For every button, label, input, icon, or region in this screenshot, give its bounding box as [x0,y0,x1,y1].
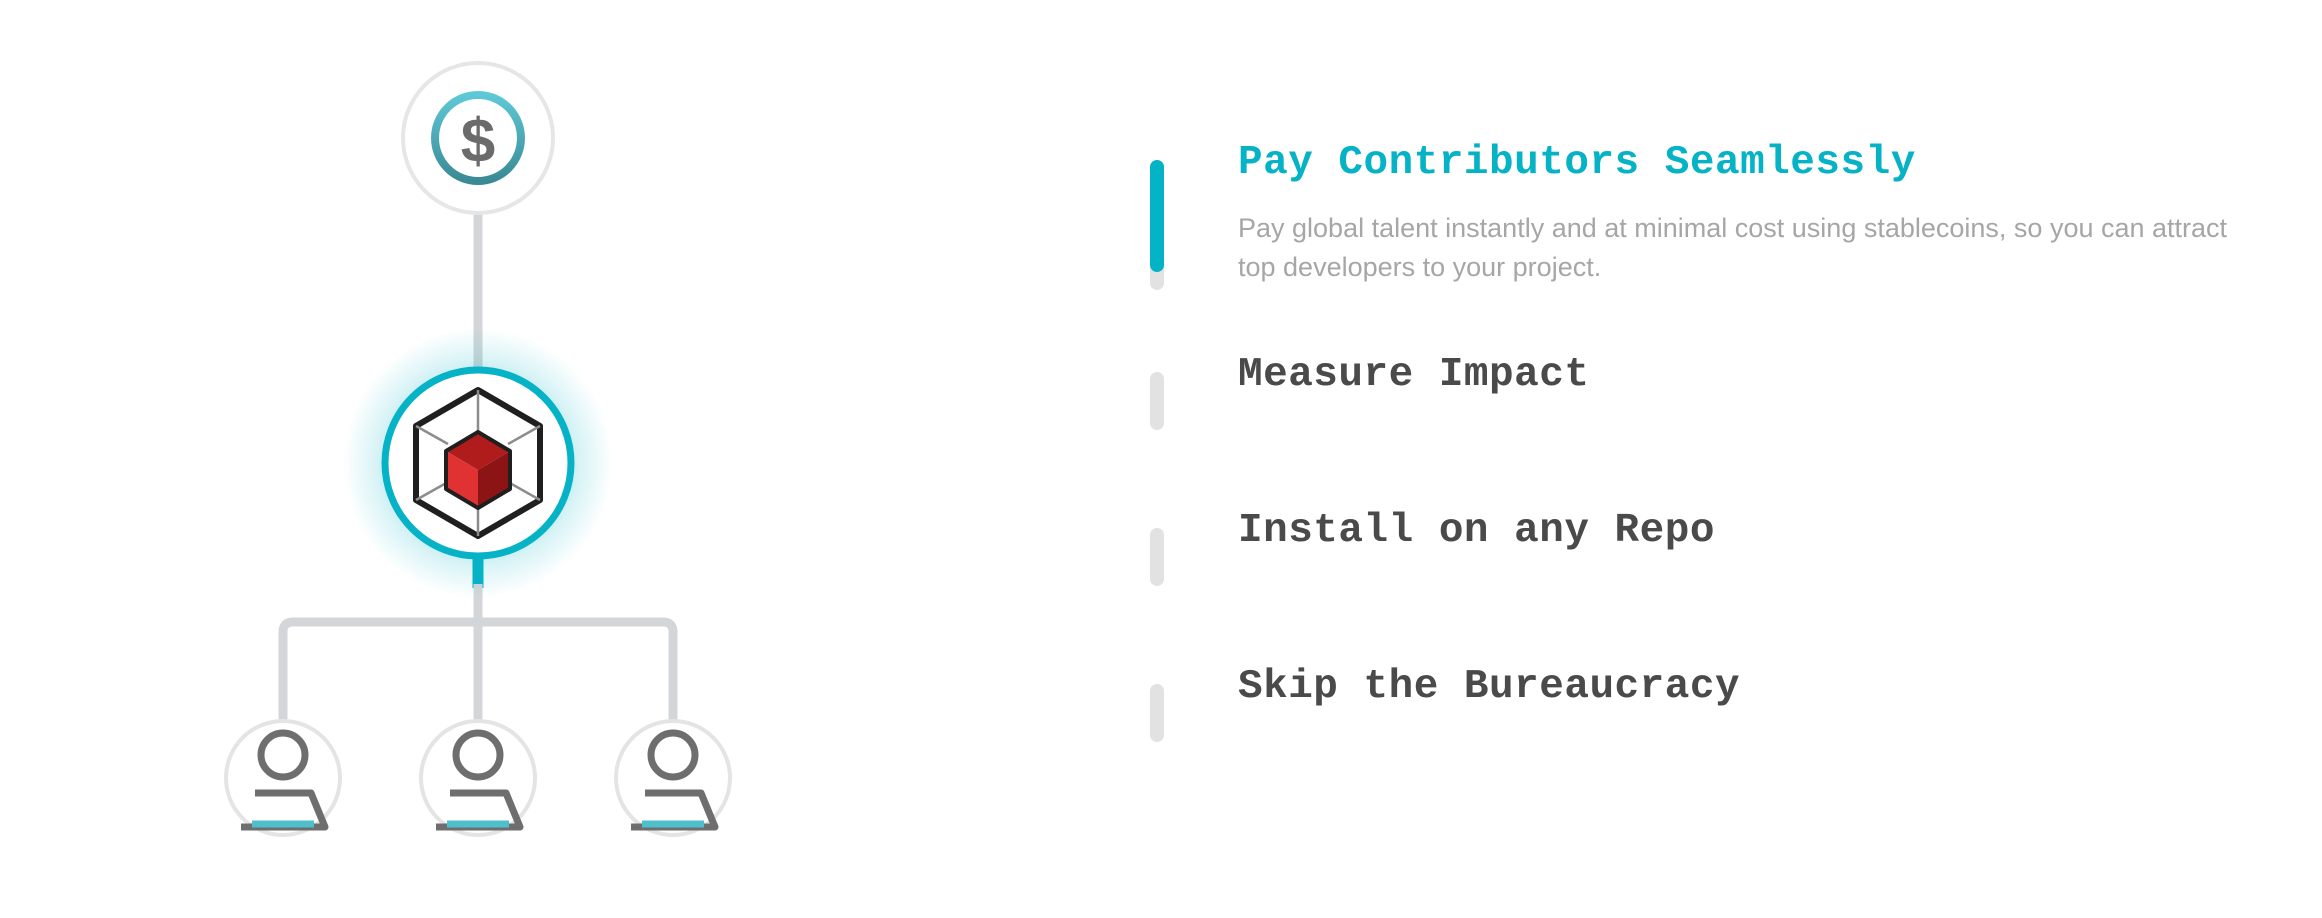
node-contributor-3 [616,721,730,835]
node-contributor-2 [421,721,535,835]
feature-item-skip-the-bureaucracy[interactable]: Skip the Bureaucracy [1150,664,2260,742]
feature-description: Pay global talent instantly and at minim… [1238,209,2238,287]
connector-branch-left [283,622,478,718]
node-repo [343,328,613,598]
feature-title[interactable]: Install on any Repo [1238,508,1715,555]
feature-title[interactable]: Pay Contributors Seamlessly [1238,140,2238,187]
feature-accordion-list: Pay Contributors Seamlessly Pay global t… [1150,140,2260,820]
feature-indicator-track [1150,528,1164,586]
feature-title[interactable]: Skip the Bureaucracy [1238,664,1740,711]
feature-item-measure-impact[interactable]: Measure Impact [1150,352,2260,430]
dollar-symbol: $ [461,107,495,176]
feature-indicator-fill [1150,160,1164,272]
feature-content: Install on any Repo [1238,508,1715,555]
feature-showcase-section: $ [0,0,2322,918]
node-payment: $ [403,63,553,213]
feature-content: Pay Contributors Seamlessly Pay global t… [1238,140,2238,287]
node-contributor-1 [226,721,340,835]
feature-item-install-on-any-repo[interactable]: Install on any Repo [1150,508,2260,586]
feature-content: Skip the Bureaucracy [1238,664,1740,711]
feature-content: Measure Impact [1238,352,1589,399]
feature-indicator-track [1150,160,1164,290]
feature-item-pay-contributors[interactable]: Pay Contributors Seamlessly Pay global t… [1150,140,2260,290]
connector-branch-right [478,622,673,718]
feature-title[interactable]: Measure Impact [1238,352,1589,399]
contributor-payment-flow-diagram: $ [0,0,1100,918]
feature-indicator-track [1150,372,1164,430]
feature-indicator-track [1150,684,1164,742]
